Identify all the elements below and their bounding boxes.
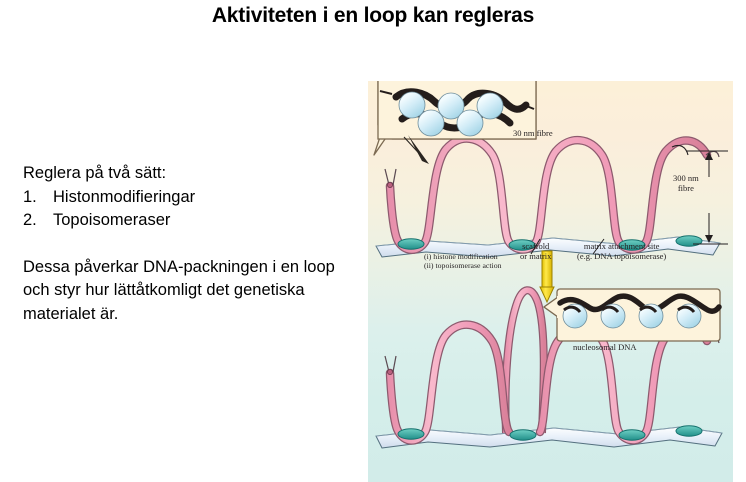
chromatin-loop-diagram: 30 nm fibre 300 nm fibre (i) histone mod…	[368, 81, 733, 482]
list-item-number: 1.	[23, 186, 53, 210]
top-loop-structure	[374, 81, 728, 257]
label-matrix-line2: (e.g. DNA topoisomerase)	[577, 251, 666, 261]
list-item-label: Histonmodifieringar	[53, 186, 195, 210]
label-nucleosomal-dna: nucleosomal DNA	[573, 343, 637, 353]
measure-300nm	[672, 145, 728, 244]
label-matrix-line1: matrix attachment site	[584, 241, 660, 251]
body-paragraph: Dessa påverkar DNA-packningen i en loop …	[23, 233, 343, 327]
lead-text: Reglera på två sätt:	[23, 162, 343, 186]
label-scaffold-or-matrix: scaffold or matrix	[520, 242, 551, 261]
label-scaffold-line1: scaffold	[522, 241, 549, 251]
chromatin-loops-top	[390, 139, 707, 250]
decondensed-loop	[505, 290, 543, 433]
label-topoisomerase-action: (ii) topoisomerase action	[424, 261, 502, 270]
inset-30nm-fibre	[374, 81, 536, 164]
list-item-number: 2.	[23, 209, 53, 233]
page-title: Aktiviteten i en loop kan regleras	[0, 4, 746, 28]
label-histone-modification: (i) histone modification	[424, 252, 498, 261]
label-scaffold-line2: or matrix	[520, 251, 551, 261]
label-300nm-line2: fibre	[678, 183, 694, 193]
label-300nm-fibre: 300 nm fibre	[673, 174, 699, 193]
label-matrix-attachment-site: matrix attachment site (e.g. DNA topoiso…	[577, 242, 666, 261]
diagram-canvas	[368, 81, 733, 482]
list-item: 2. Topoisomeraser	[23, 209, 343, 233]
inset-nucleosomal-dna	[544, 289, 720, 341]
label-modification-actions: (i) histone modification (ii) topoisomer…	[424, 253, 502, 270]
label-300nm-line1: 300 nm	[673, 173, 699, 183]
list-item-label: Topoisomeraser	[53, 209, 170, 233]
list-item: 1. Histonmodifieringar	[23, 186, 343, 210]
numbered-list: 1. Histonmodifieringar 2. Topoisomeraser	[23, 186, 343, 233]
content-text-block: Reglera på två sätt: 1. Histonmodifierin…	[23, 162, 343, 326]
label-30nm-fibre: 30 nm fibre	[513, 129, 553, 139]
bottom-loop-structure	[376, 289, 722, 448]
